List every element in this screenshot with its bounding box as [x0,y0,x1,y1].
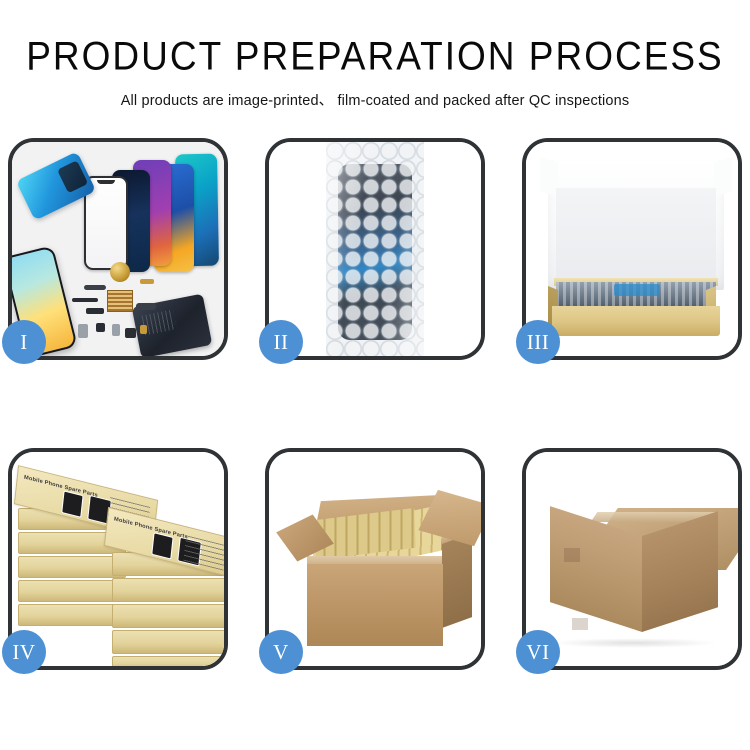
box-spec-text-block-front [183,535,224,570]
step-4-numeral-badge: IV [2,630,46,674]
small-part-icon-e [125,328,136,338]
small-part-icon-c [96,323,105,332]
step-2-backdrop [269,142,481,356]
stack-box-right-5 [112,656,224,666]
step-1-image [12,142,224,356]
stack-box-right-3 [112,604,224,628]
step-2-numeral-badge: II [259,320,303,364]
small-part-icon-h [72,298,98,302]
small-part-icon-d [112,324,120,336]
step-5-backdrop [269,452,481,666]
process-step-4[interactable]: Mobile Phone Spare Parts Mobile Phone Sp… [8,448,228,670]
header: PRODUCT PREPARATION PROCESS All products… [0,0,750,110]
box-art-screen-c [151,532,173,559]
step-2-image [269,142,481,356]
step-3-numeral-badge: III [516,320,560,364]
carton-flap-tab-bottom [572,618,588,630]
process-step-6[interactable]: VI [522,448,742,670]
gold-connector-part-icon [140,279,154,284]
step-4-backdrop: Mobile Phone Spare Parts Mobile Phone Sp… [12,452,224,666]
step-6-backdrop [526,452,738,666]
step-3-image [526,142,738,356]
stack-box-right-4 [112,630,224,654]
step-6-numeral-badge: VI [516,630,560,674]
page-title: PRODUCT PREPARATION PROCESS [0,36,750,78]
stack-box-right-2 [112,578,224,602]
plastic-sheen [326,142,424,356]
product-preparation-infographic: PRODUCT PREPARATION PROCESS All products… [0,0,750,750]
retail-box-stack-icon: Mobile Phone Spare Parts Mobile Phone Sp… [16,466,224,666]
process-step-2[interactable]: II [265,138,485,360]
flex-cable-part-icon [84,285,106,290]
process-step-3[interactable]: III [522,138,742,360]
small-part-icon-a [86,308,104,314]
process-step-1[interactable]: I [8,138,228,360]
packed-product-icon [556,282,716,308]
carton-front-face [307,564,443,646]
carton-right-face [442,533,472,628]
chip-part-icon [107,290,133,312]
step-3-backdrop [526,142,738,356]
step-6-image [526,452,738,666]
small-part-icon-g [78,324,88,338]
carton-flap-tab-top [564,548,580,562]
box-art-screen-a [61,490,83,517]
stack-box-left-5 [18,604,126,626]
step-1-numeral-badge: I [2,320,46,364]
mailer-interior [556,188,716,288]
process-step-grid: I II [8,138,742,670]
step-5-image [269,452,481,666]
stack-box-left-4 [18,580,126,602]
process-step-5[interactable]: V [265,448,485,670]
small-part-icon-b [136,303,156,310]
carton-drop-shadow [550,638,718,648]
stack-box-left-3 [18,556,126,578]
step-4-image: Mobile Phone Spare Parts Mobile Phone Sp… [12,452,224,666]
mailer-front-panel [552,306,720,336]
speaker-part-icon [110,262,130,282]
step-5-numeral-badge: V [259,630,303,674]
step-1-backdrop [12,142,224,356]
page-subtitle: All products are image-printed、 film-coa… [0,89,750,110]
retail-box-label-back: Mobile Phone Spare Parts [24,475,98,499]
retail-box-label-front: Mobile Phone Spare Parts [114,516,188,540]
small-part-icon-f [140,325,147,334]
